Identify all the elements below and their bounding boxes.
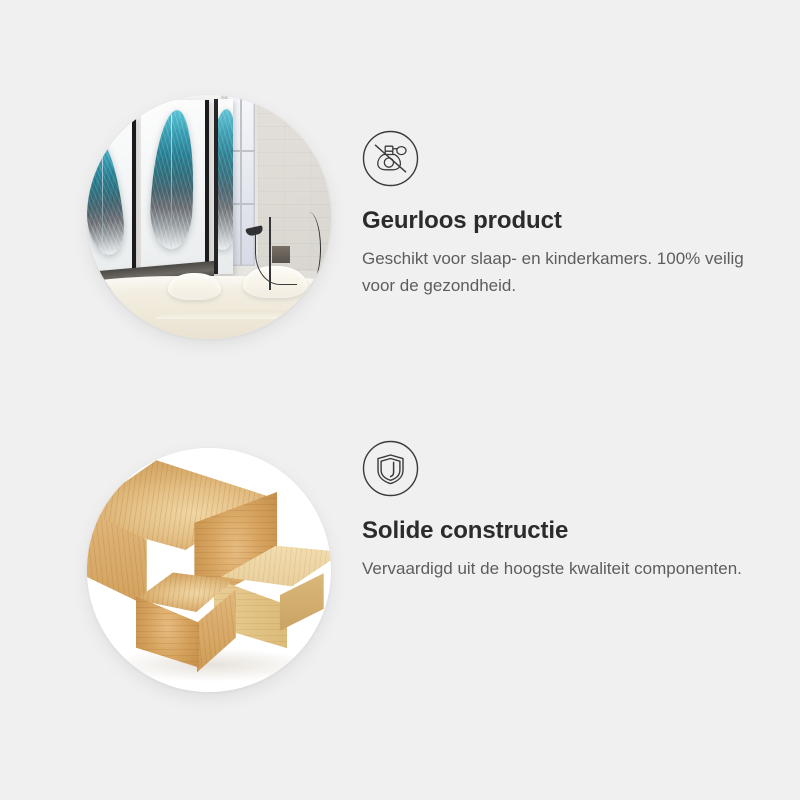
feather-graphic <box>148 109 198 250</box>
wood-scene <box>87 448 331 692</box>
feature-block-odourless: Geurloos product Geschikt voor slaap- en… <box>0 42 800 395</box>
bedroom-feather-image <box>87 95 331 339</box>
wooden-beams-image <box>87 448 331 692</box>
feature-title: Solide constructie <box>362 517 568 545</box>
feather-graphic <box>87 137 128 256</box>
feature-description: Geschikt voor slaap- en kinderkamers. 10… <box>362 245 750 299</box>
panel-edge <box>205 100 209 273</box>
panel-edge <box>214 99 218 275</box>
feature-title: Geurloos product <box>362 207 562 235</box>
shield-icon <box>362 440 419 497</box>
art-panel-left <box>87 117 136 273</box>
panel-edge <box>132 117 136 273</box>
pillow <box>168 273 222 300</box>
feature-description: Vervaardigd uit de hoogste kwaliteit com… <box>362 555 750 582</box>
no-fragrance-icon <box>362 130 419 187</box>
feature-block-solid-construction: Solide constructie Vervaardigd uit de ho… <box>0 395 800 748</box>
window-mullion <box>240 95 242 266</box>
bedroom-scene <box>87 95 331 339</box>
feature-panel: Geurloos product Geschikt voor slaap- en… <box>0 0 800 800</box>
art-panel-right <box>214 99 234 275</box>
art-panel-center <box>141 100 209 273</box>
